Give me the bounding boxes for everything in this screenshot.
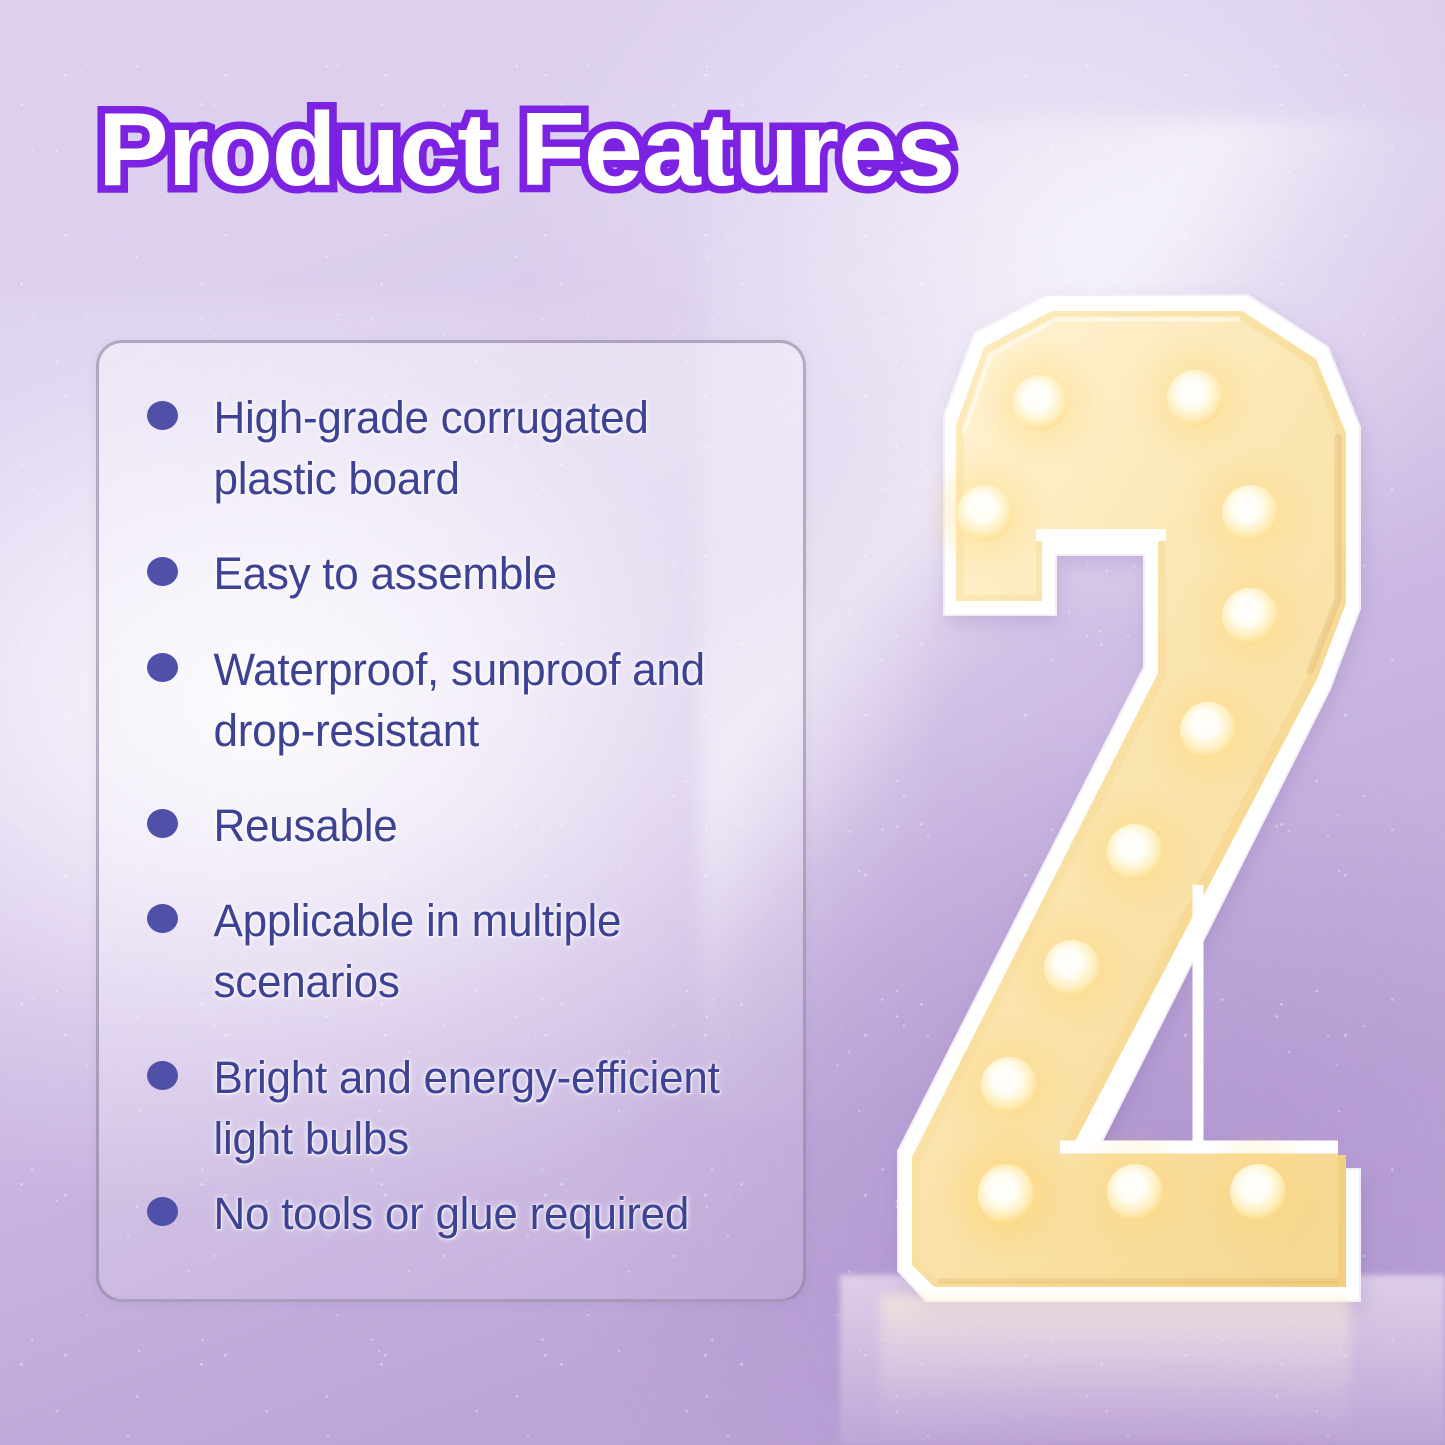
list-item: Reusable <box>147 795 769 856</box>
list-item: Applicable in multiple scenarios <box>147 890 769 1012</box>
number-2-shape <box>860 285 1380 1345</box>
feature-list: High-grade corrugated plastic board Easy… <box>99 343 803 1266</box>
bullet-dot-icon <box>147 653 178 682</box>
page-title: Product Features <box>98 96 954 205</box>
list-item: Bright and energy-efficient light bulbs <box>147 1047 769 1169</box>
feature-text: Reusable <box>188 795 397 856</box>
product-feature-image: Product Features High-grade corrugated p… <box>0 0 1445 1445</box>
bullet-dot-icon <box>147 1197 178 1226</box>
feature-text: Easy to assemble <box>188 543 557 604</box>
bullet-dot-icon <box>147 1061 178 1090</box>
feature-text: Waterproof, sunproof and drop-resistant <box>188 639 757 761</box>
feature-text: No tools or glue required <box>188 1183 689 1244</box>
bullet-dot-icon <box>147 809 178 838</box>
feature-panel: High-grade corrugated plastic board Easy… <box>96 340 806 1302</box>
feature-text: Bright and energy-efficient light bulbs <box>188 1047 757 1169</box>
list-item: High-grade corrugated plastic board <box>147 387 769 509</box>
number-reflection <box>880 1295 1350 1445</box>
feature-text: Applicable in multiple scenarios <box>188 890 757 1012</box>
marquee-light-up-number-2 <box>860 285 1380 1345</box>
bullet-dot-icon <box>147 557 178 586</box>
bullet-dot-icon <box>147 401 178 430</box>
list-item: No tools or glue required <box>147 1183 769 1244</box>
list-item: Waterproof, sunproof and drop-resistant <box>147 639 769 761</box>
list-item: Easy to assemble <box>147 543 769 604</box>
bullet-dot-icon <box>147 904 178 933</box>
feature-text: High-grade corrugated plastic board <box>188 387 757 509</box>
